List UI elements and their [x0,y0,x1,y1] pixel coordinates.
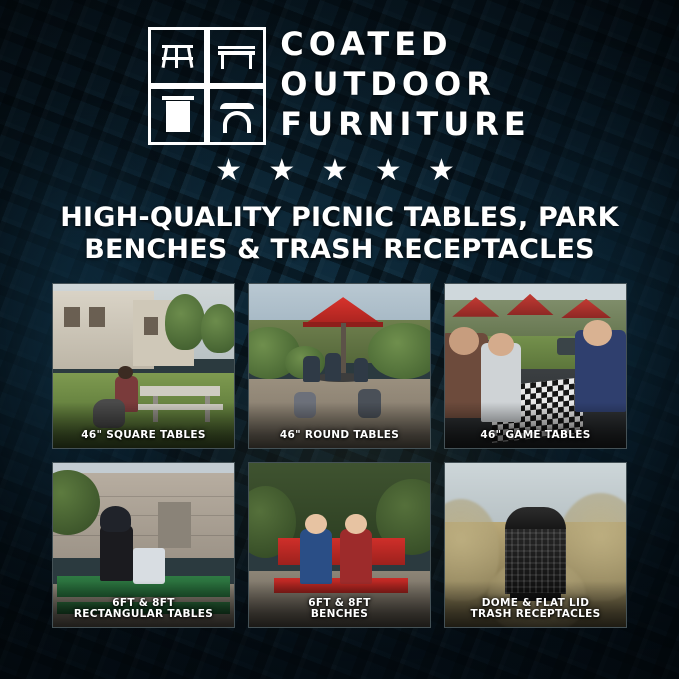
brand-name-line-1: COATED [280,26,530,64]
gallery-tile-round-tables[interactable]: 46" ROUND TABLES [248,283,431,449]
gallery-caption-line-2: TRASH RECEPTACLES [449,609,622,621]
gallery-caption: DOME & FLAT LID TRASH RECEPTACLES [445,598,626,622]
gallery-caption-line-1: 46" GAME TABLES [449,430,622,442]
gallery-caption: 46" GAME TABLES [445,430,626,442]
photo-square-tables [53,284,234,448]
brand-name-line-3: FURNITURE [280,106,530,144]
headline-line-2: BENCHES & TRASH RECEPTACLES [0,234,679,266]
gallery-tile-benches[interactable]: 6FT & 8FT BENCHES [248,462,431,628]
gallery-tile-trash-receptacles[interactable]: DOME & FLAT LID TRASH RECEPTACLES [444,462,627,628]
brand-logo: COATED OUTDOOR FURNITURE [0,26,679,145]
gallery-caption: 46" SQUARE TABLES [53,430,234,442]
brand-name-line-2: OUTDOOR [280,66,530,104]
star-rating-icon: ★ ★ ★ ★ ★ [0,156,679,186]
gallery-tile-square-tables[interactable]: 46" SQUARE TABLES [52,283,235,449]
logo-grid-icon [148,27,266,145]
gallery-caption-line-2: RECTANGULAR TABLES [57,609,230,621]
product-gallery: 46" SQUARE TABLES [52,283,627,628]
gallery-caption: 6FT & 8FT BENCHES [249,598,430,622]
gallery-caption: 46" ROUND TABLES [249,430,430,442]
gallery-tile-rectangular-tables[interactable]: 6FT & 8FT RECTANGULAR TABLES [52,462,235,628]
gallery-tile-game-tables[interactable]: 46" GAME TABLES [444,283,627,449]
gallery-caption: 6FT & 8FT RECTANGULAR TABLES [53,598,234,622]
headline: HIGH-QUALITY PICNIC TABLES, PARK BENCHES… [0,202,679,265]
gallery-caption-line-2: BENCHES [253,609,426,621]
photo-round-tables [249,284,430,448]
photo-game-tables [445,284,626,448]
gallery-caption-line-1: 46" ROUND TABLES [253,430,426,442]
headline-line-1: HIGH-QUALITY PICNIC TABLES, PARK [0,202,679,234]
gallery-caption-line-1: 46" SQUARE TABLES [57,430,230,442]
product-poster: COATED OUTDOOR FURNITURE ★ ★ ★ ★ ★ HIGH-… [0,0,679,679]
